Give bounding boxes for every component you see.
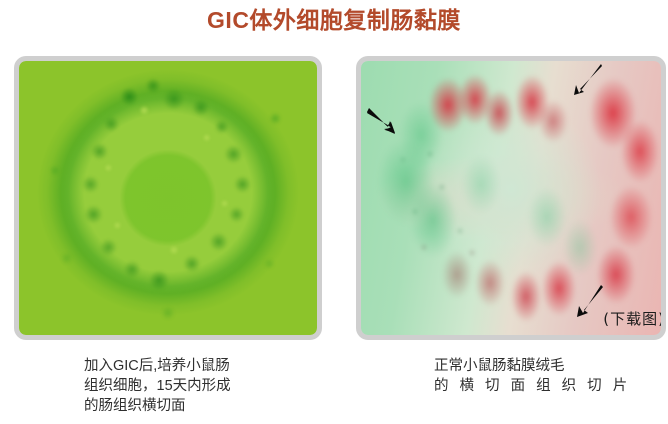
annotation-arrow-top-right [573,63,603,97]
annotation-arrow-bottom-right [575,283,605,319]
caption-left-line-1: 加入GIC后,培养小鼠肠 [84,356,231,376]
caption-right-line-2: 的 横 切 面 组 织 切 片 [434,376,631,396]
annotation-arrow-top-left [365,105,401,135]
download-watermark: (下载图) [603,308,661,329]
caption-right: 正常小鼠肠黏膜绒毛 的 横 切 面 组 织 切 片 [434,356,631,396]
arrow-icon [365,105,401,135]
figure-left [14,56,322,340]
histology-tissue-texture [361,61,661,335]
green-fluorescence-micrograph-image [19,61,317,335]
green-tissue-texture [19,61,317,335]
caption-left: 加入GIC后,培养小鼠肠 组织细胞，15天内形成 的肠组织横切面 [84,356,231,416]
page-root: GIC体外细胞复制肠黏膜 [0,0,668,424]
arrow-icon [573,63,603,97]
arrow-icon [575,283,605,319]
caption-right-line-1: 正常小鼠肠黏膜绒毛 [434,356,631,376]
histology-section-image: (下载图) [361,61,661,335]
caption-left-line-3: 的肠组织横切面 [84,396,231,416]
page-title: GIC体外细胞复制肠黏膜 [0,5,668,35]
caption-left-line-2: 组织细胞，15天内形成 [84,376,231,396]
figure-right: (下载图) [356,56,666,340]
